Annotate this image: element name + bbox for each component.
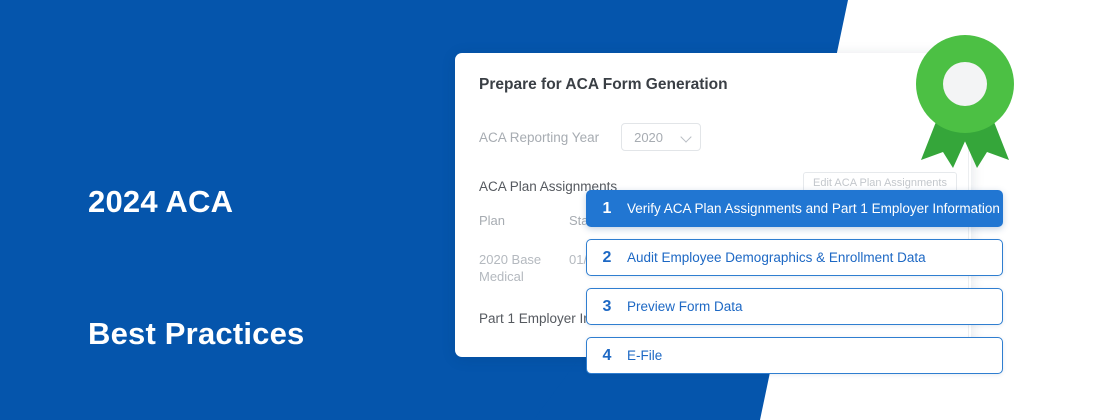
reporting-year-select[interactable]: 2020 [621,123,701,151]
step-label-4: E-File [627,348,662,363]
step-number-2: 2 [587,249,627,267]
step-item-2[interactable]: 2 Audit Employee Demographics & Enrollme… [586,239,1003,276]
step-item-4[interactable]: 4 E-File [586,337,1003,374]
employer-info-label: Part 1 Employer Inf [479,311,595,326]
step-number-1: 1 [587,200,627,218]
cell-plan-name: 2020 Base Medical [479,252,569,286]
reporting-year-label: ACA Reporting Year [479,130,599,145]
step-label-2: Audit Employee Demographics & Enrollment… [627,250,926,265]
step-item-1[interactable]: 1 Verify ACA Plan Assignments and Part 1… [586,190,1003,227]
step-item-3[interactable]: 3 Preview Form Data [586,288,1003,325]
reporting-year-value: 2020 [634,130,663,145]
step-label-3: Preview Form Data [627,299,743,314]
step-label-1: Verify ACA Plan Assignments and Part 1 E… [627,201,1000,216]
chevron-down-icon [681,132,692,143]
steps-list: 1 Verify ACA Plan Assignments and Part 1… [586,190,1003,386]
column-header-plan: Plan [479,213,569,228]
card-title: Prepare for ACA Form Generation [479,76,728,94]
step-number-4: 4 [587,347,627,365]
step-number-3: 3 [587,298,627,316]
page-title: 2024 ACA Best Practices [88,92,305,420]
banner-stage: 2024 ACA Best Practices Prepare for ACA … [0,0,1100,420]
reporting-year-field: ACA Reporting Year 2020 [479,123,701,151]
headline-line-2: Best Practices [88,312,305,356]
award-ribbon-icon [913,32,1017,168]
headline-line-1: 2024 ACA [88,180,305,224]
